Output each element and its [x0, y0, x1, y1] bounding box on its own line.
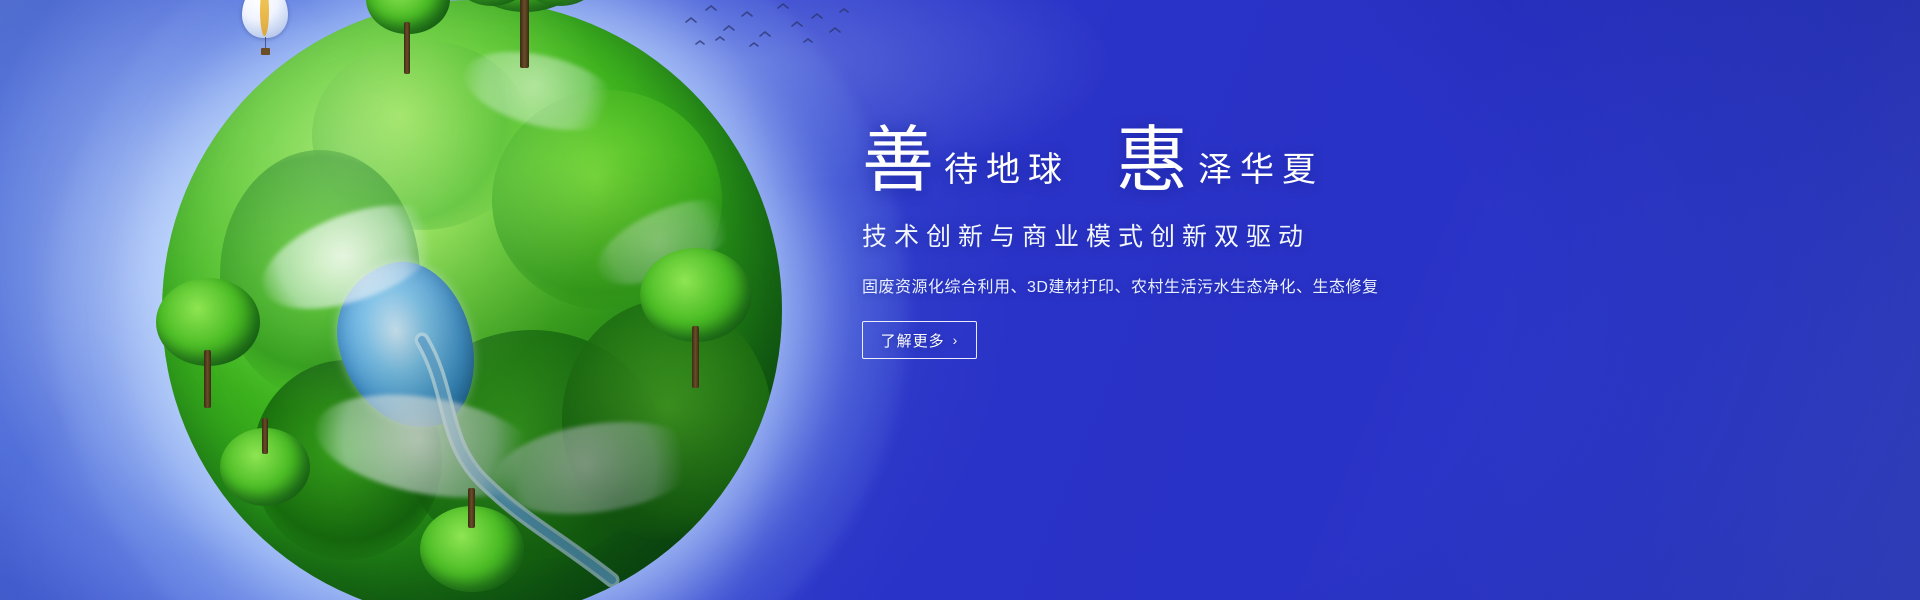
hero-headline: 善 待地球 惠 泽华夏 [862, 126, 1462, 195]
tree-icon [366, 0, 456, 74]
tree-icon [640, 248, 760, 388]
headline-phrase-2: 惠 泽华夏 [1116, 126, 1324, 195]
hero-content: 善 待地球 惠 泽华夏 技术创新与商业模式创新双驱动 固废资源化综合利用、3D建… [862, 126, 1462, 359]
hero-banner: 善 待地球 惠 泽华夏 技术创新与商业模式创新双驱动 固废资源化综合利用、3D建… [0, 0, 1920, 600]
headline-phrase-1: 善 待地球 [862, 126, 1070, 195]
tree-icon [420, 488, 530, 600]
hero-subtitle: 技术创新与商业模式创新双驱动 [862, 217, 1462, 253]
hot-air-balloon-icon [242, 0, 288, 60]
tree-icon [220, 418, 316, 538]
headline-phrase-2-lead: 惠 [1116, 126, 1188, 195]
learn-more-label: 了解更多 [881, 330, 945, 351]
hero-description: 固废资源化综合利用、3D建材打印、农村生活污水生态净化、生态修复 [862, 273, 1462, 297]
bird-flock-icon [680, 0, 860, 56]
learn-more-button[interactable]: 了解更多 › [862, 321, 977, 359]
tiny-planet-earth-image [120, 0, 840, 600]
tree-icon [450, 0, 600, 68]
headline-phrase-1-rest: 待地球 [944, 153, 1070, 187]
tree-icon [156, 278, 268, 408]
headline-phrase-1-lead: 善 [862, 126, 934, 195]
chevron-right-icon: › [953, 332, 959, 348]
headline-phrase-2-rest: 泽华夏 [1198, 153, 1324, 187]
cloud-patch [249, 184, 457, 330]
lake-icon [324, 250, 488, 442]
